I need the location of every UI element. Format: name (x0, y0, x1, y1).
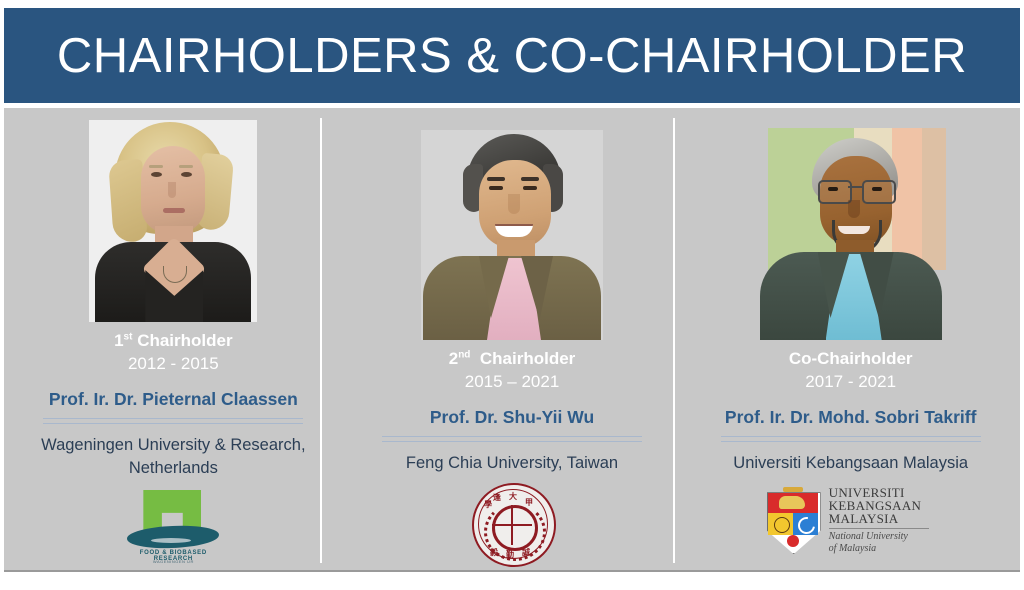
eye-right (523, 186, 537, 190)
role-text-1: Chairholder (137, 331, 232, 350)
eye-right (872, 187, 882, 191)
photo-mohd-sobri-takriff (756, 128, 946, 340)
ukm-shield-icon (765, 487, 821, 553)
content-panel: 1st Chairholder 2012 - 2015 Prof. Ir. Dr… (4, 108, 1020, 572)
person-info-2: 2nd Chairholder 2015 – 2021 Prof. Dr. Sh… (343, 340, 682, 475)
mouth-shape (163, 208, 185, 213)
header-banner: CHAIRHOLDERS & CO-CHAIRHOLDER (4, 8, 1020, 103)
person-column-2: 2nd Chairholder 2015 – 2021 Prof. Dr. Sh… (343, 108, 682, 570)
role-number-1: 1 (114, 331, 123, 350)
role-text-3: Co-Chairholder (789, 349, 913, 368)
role-label-2: 2nd Chairholder (343, 348, 682, 369)
seal-char-4: 學 (484, 499, 492, 510)
name-divider-1 (43, 418, 303, 424)
people-columns: 1st Chairholder 2012 - 2015 Prof. Ir. Dr… (4, 108, 1020, 570)
seal-char-2: 大 (509, 491, 517, 502)
seal-char-5: 毅 (490, 547, 498, 558)
role-text-2: Chairholder (480, 349, 575, 368)
glasses-bridge (848, 186, 862, 188)
years-2: 2015 – 2021 (343, 371, 682, 393)
name-divider-2 (382, 436, 642, 442)
nose-shape (508, 194, 520, 214)
person-name-1: Prof. Ir. Dr. Pieternal Claassen (4, 389, 343, 410)
photo-wrap-3 (681, 108, 1020, 340)
eyebrow-left (149, 165, 163, 168)
person-name-2: Prof. Dr. Shu-Yii Wu (343, 407, 682, 428)
photo-wrap-2 (343, 108, 682, 340)
seal-char-3: 甲 (525, 497, 533, 508)
wageningen-food-biobased-research-logo: FOOD & BIOBASED RESEARCH WAGENINGEN UR (121, 486, 225, 570)
logo-wrap-1: FOOD & BIOBASED RESEARCH WAGENINGEN UR (4, 486, 343, 570)
seal-char-7: 誠 (522, 547, 530, 558)
logo-wrap-3: UNIVERSITI KEBANGSAAN MALAYSIA National … (681, 481, 1020, 570)
ukm-subtitle-2: of Malaysia (829, 543, 929, 555)
ukm-crown-shape (783, 487, 803, 492)
glasses-lens-left (818, 180, 852, 204)
eyebrow-right (521, 177, 539, 181)
page-title: CHAIRHOLDERS & CO-CHAIRHOLDER (57, 28, 967, 84)
person-info-1: 1st Chairholder 2012 - 2015 Prof. Ir. Dr… (4, 322, 343, 480)
person-column-1: 1st Chairholder 2012 - 2015 Prof. Ir. Dr… (4, 108, 343, 570)
seal-char-6: 勤 (506, 549, 514, 560)
photo-wrap-1 (4, 108, 343, 322)
person-name-3: Prof. Ir. Dr. Mohd. Sobri Takriff (681, 407, 1020, 428)
mouth-shape (838, 226, 870, 234)
photo-pieternal-claassen (89, 120, 257, 322)
ukm-hibiscus-icon (787, 535, 799, 547)
role-ordinal-1: st (124, 331, 133, 342)
universiti-kebangsaan-malaysia-logo: UNIVERSITI KEBANGSAAN MALAYSIA National … (765, 481, 937, 559)
person-column-3: Co-Chairholder 2017 - 2021 Prof. Ir. Dr.… (681, 108, 1020, 570)
background-panel-peach (892, 128, 922, 270)
feng-chia-university-seal: 逢 大 甲 學 毅 勤 誠 (468, 481, 556, 569)
role-number-2: 2 (449, 349, 458, 368)
role-label-3: Co-Chairholder (681, 348, 1020, 369)
years-1: 2012 - 2015 (4, 353, 343, 375)
ukm-tiger-icon (779, 496, 805, 509)
person-info-3: Co-Chairholder 2017 - 2021 Prof. Ir. Dr.… (681, 340, 1020, 475)
ukm-rule (829, 528, 929, 529)
slide-root: CHAIRHOLDERS & CO-CHAIRHOLDER (0, 0, 1024, 590)
seal-char-1: 逢 (493, 492, 501, 503)
background-panel-tan (922, 128, 946, 270)
seal-gear-icon (492, 505, 538, 551)
ukm-wordmark: UNIVERSITI KEBANGSAAN MALAYSIA National … (829, 486, 929, 554)
role-label-1: 1st Chairholder (4, 330, 343, 351)
logo-wrap-2: 逢 大 甲 學 毅 勤 誠 (343, 481, 682, 570)
glasses-lens-right (862, 180, 896, 204)
role-ordinal-2: nd (458, 349, 470, 360)
affiliation-1: Wageningen University & Research, Nether… (4, 434, 343, 480)
ukm-atom-icon (774, 517, 790, 533)
photo-shu-yii-wu (421, 130, 603, 340)
eye-left (828, 187, 838, 191)
ukm-subtitle-1: National University (829, 531, 929, 543)
eye-left (489, 186, 503, 190)
eyebrow-left (487, 177, 505, 181)
eyebrow-right (179, 165, 193, 168)
years-3: 2017 - 2021 (681, 371, 1020, 393)
wur-brush-shape (127, 524, 220, 549)
name-divider-3 (721, 436, 981, 442)
affiliation-3: Universiti Kebangsaan Malaysia (681, 452, 1020, 475)
wur-logo-line2: WAGENINGEN UR (121, 559, 225, 564)
nose-shape (168, 182, 176, 198)
ukm-line-3: MALAYSIA (829, 512, 929, 525)
affiliation-2: Feng Chia University, Taiwan (343, 452, 682, 475)
nose-shape (848, 200, 860, 218)
